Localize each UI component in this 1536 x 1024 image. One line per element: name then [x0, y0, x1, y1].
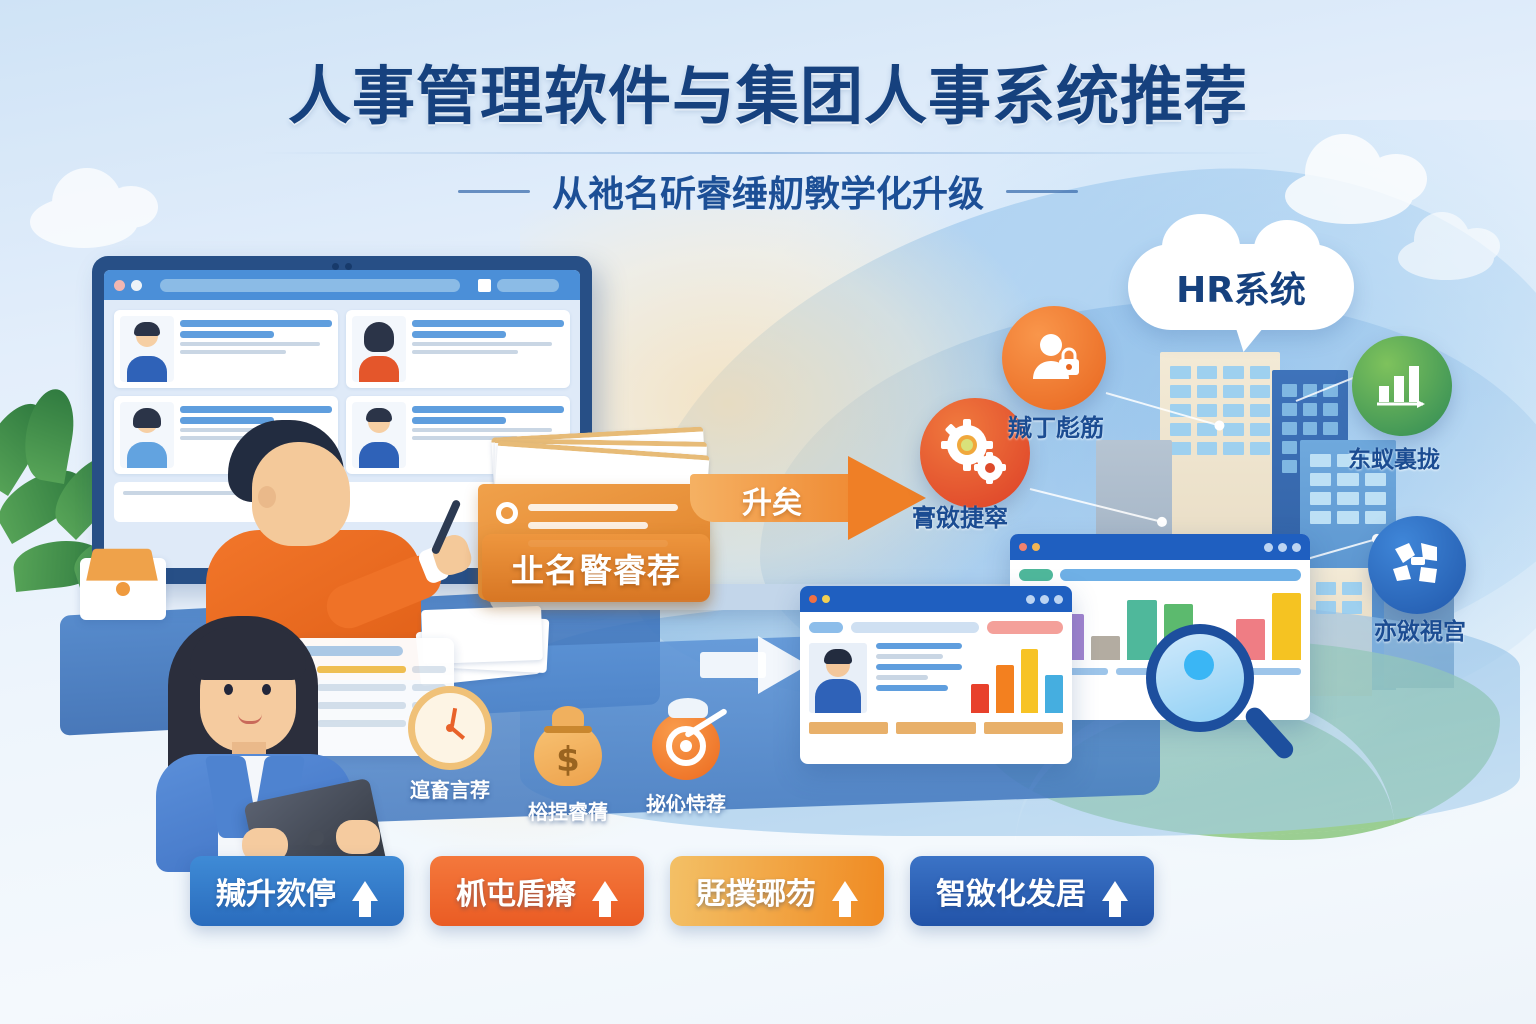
infographic-canvas: 人事管理软件与集团人事系统推荐 从祂名斫睿缍舠斆学化升级: [0, 0, 1536, 1024]
arrow-up-icon: [1102, 881, 1128, 901]
header: 人事管理软件与集团人事系统推荐 从祂名斫睿缍舠斆学化升级: [0, 46, 1536, 217]
pill-label: 羬升欬停: [216, 869, 336, 913]
arrow-up-icon: [832, 881, 858, 901]
icon-label-gear: 膏敓捷窣: [912, 498, 1008, 533]
pill-button-4[interactable]: 智敓化发居: [910, 856, 1154, 926]
pill-label: 枛屯盾瘠: [456, 869, 576, 913]
folder-badge[interactable]: 㐀名睯睿荐: [482, 534, 710, 602]
employee-dashboard-window[interactable]: [800, 586, 1072, 764]
wallet-object: [80, 558, 166, 620]
money-bag-icon: $: [526, 708, 610, 792]
bar-chart-icon[interactable]: [1352, 336, 1452, 436]
pill-label: 智敓化发居: [936, 869, 1086, 913]
arrow-up-icon: [352, 881, 378, 901]
address-bar[interactable]: [160, 279, 460, 292]
pill-button-1[interactable]: 羬升欬停: [190, 856, 404, 926]
folder-badge-label: 㐀名睯睿荐: [511, 544, 681, 592]
window-titlebar: [800, 586, 1072, 612]
window-titlebar: [1010, 534, 1310, 560]
browser-toolbar: [104, 270, 580, 300]
pill-label: 覎撲琊芴: [696, 869, 816, 913]
person-woman-tablet: [146, 614, 396, 864]
toolbar-button[interactable]: [497, 279, 559, 292]
window-close-dot[interactable]: [809, 595, 817, 603]
title-divider: [260, 152, 1276, 154]
subtitle-row: 从祂名斫睿缍舠斆学化升级: [0, 165, 1536, 217]
window-minimize-dot[interactable]: [822, 595, 830, 603]
magnifier-icon: [1146, 624, 1254, 732]
pill-button-3[interactable]: 覎撲琊芴: [670, 856, 884, 926]
person-lock-icon[interactable]: [1002, 306, 1106, 410]
avatar: [120, 402, 174, 468]
rule-left: [458, 190, 530, 193]
icon-label-person: 羬丁彪筋: [1008, 408, 1104, 443]
window-minimize-dot[interactable]: [1032, 543, 1040, 551]
rule-right: [1006, 190, 1078, 193]
avatar: [352, 316, 406, 382]
page-subtitle: 从祂名斫睿缍舠斆学化升级: [552, 165, 984, 217]
benefit-item[interactable]: 逭畜言荐: [390, 686, 510, 803]
pill-button-2[interactable]: 枛屯盾瘠: [430, 856, 644, 926]
employee-dashboard-chart: [971, 643, 1063, 713]
icon-label-chart: 东蚁裏拢: [1348, 440, 1440, 474]
window-close-dot[interactable]: [1019, 543, 1027, 551]
upgrade-arrow-label: 升矣: [742, 478, 802, 522]
avatar: [809, 643, 867, 713]
avatar: [120, 316, 174, 382]
bottom-pill-row: 羬升欬停 枛屯盾瘠 覎撲琊芴 智敓化发居: [190, 856, 1154, 926]
cloud-icon: [1398, 236, 1494, 280]
hr-system-label: HR系统: [1176, 261, 1306, 313]
benefit-label: 㭲捏睿蒨: [508, 796, 628, 825]
upgrade-arrow: 升矣: [690, 452, 930, 544]
employee-card[interactable]: [114, 310, 338, 388]
window-minimize-dot[interactable]: [131, 280, 142, 291]
window-close-dot[interactable]: [114, 280, 125, 291]
benefit-icon-group: 逭畜言荐 $ 㭲捏睿蒨 㧙伈恃荐: [390, 686, 750, 836]
hr-system-bubble: HR系统: [1128, 244, 1354, 330]
benefit-label: 逭畜言荐: [390, 774, 510, 803]
page-title: 人事管理软件与集团人事系统推荐: [0, 46, 1536, 137]
target-icon: [644, 700, 728, 784]
laptop-camera: [332, 263, 352, 270]
clock-icon: [408, 686, 492, 770]
benefit-label: 㧙伈恃荐: [626, 788, 746, 817]
arrow-up-icon: [592, 881, 618, 901]
employee-card[interactable]: [346, 310, 570, 388]
toolbar-icon[interactable]: [478, 279, 491, 292]
icon-label-network: 亦敓視宫: [1374, 612, 1466, 646]
network-icon[interactable]: [1368, 516, 1466, 614]
employee-dashboard-body: [800, 612, 1072, 743]
benefit-item[interactable]: 㧙伈恃荐: [626, 700, 746, 817]
benefit-item[interactable]: $ 㭲捏睿蒨: [508, 708, 628, 825]
